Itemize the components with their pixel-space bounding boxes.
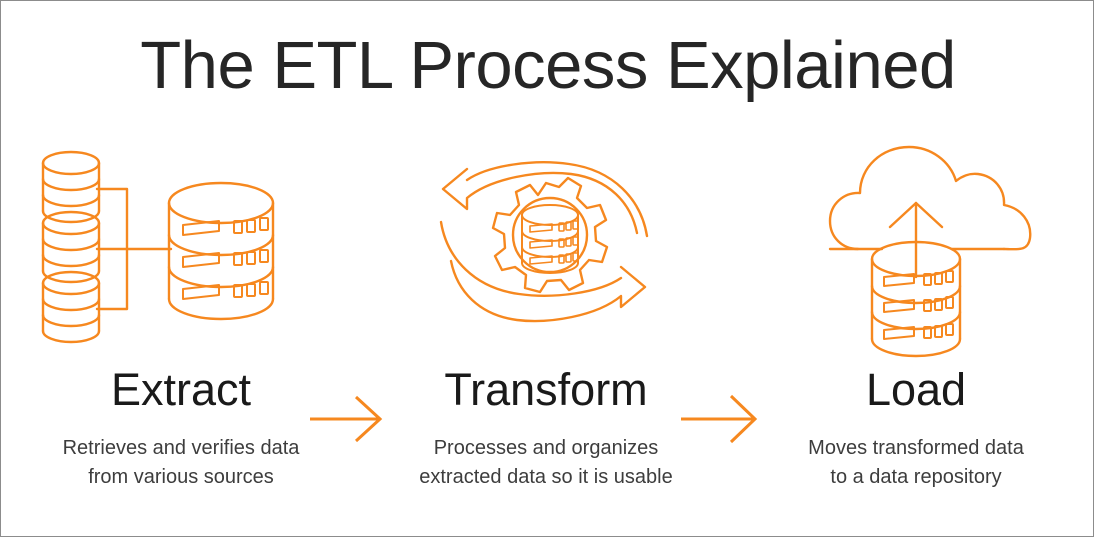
cloud-upload-database-icon bbox=[796, 141, 1036, 366]
stage-heading-transform: Transform bbox=[376, 363, 716, 417]
page-title: The ETL Process Explained bbox=[1, 29, 1094, 103]
stage-caption-transform: Processes and organizes extracted data s… bbox=[376, 434, 716, 492]
stage-caption-load: Moves transformed data to a data reposit… bbox=[746, 434, 1086, 492]
caption-line-2: extracted data so it is usable bbox=[376, 463, 716, 492]
stage-extract: Extract Retrieves and verifies data from… bbox=[11, 141, 351, 521]
caption-line-2: to a data repository bbox=[746, 463, 1086, 492]
stage-heading-extract: Extract bbox=[11, 363, 351, 417]
load-illustration bbox=[746, 141, 1086, 366]
caption-line-1: Processes and organizes bbox=[376, 434, 716, 463]
caption-line-1: Moves transformed data bbox=[746, 434, 1086, 463]
stage-caption-extract: Retrieves and verifies data from various… bbox=[11, 434, 351, 492]
stage-transform: Transform Processes and organizes extrac… bbox=[376, 141, 716, 521]
gear-cycle-database-icon bbox=[431, 141, 661, 366]
caption-line-1: Retrieves and verifies data bbox=[11, 434, 351, 463]
stage-heading-load: Load bbox=[746, 363, 1086, 417]
databases-to-database-icon bbox=[31, 141, 331, 366]
transform-illustration bbox=[376, 141, 716, 366]
stage-list: Extract Retrieves and verifies data from… bbox=[1, 141, 1094, 521]
stage-load: Load Moves transformed data to a data re… bbox=[746, 141, 1086, 521]
extract-illustration bbox=[11, 141, 351, 366]
caption-line-2: from various sources bbox=[11, 463, 351, 492]
etl-diagram-canvas: The ETL Process Explained bbox=[0, 0, 1094, 537]
